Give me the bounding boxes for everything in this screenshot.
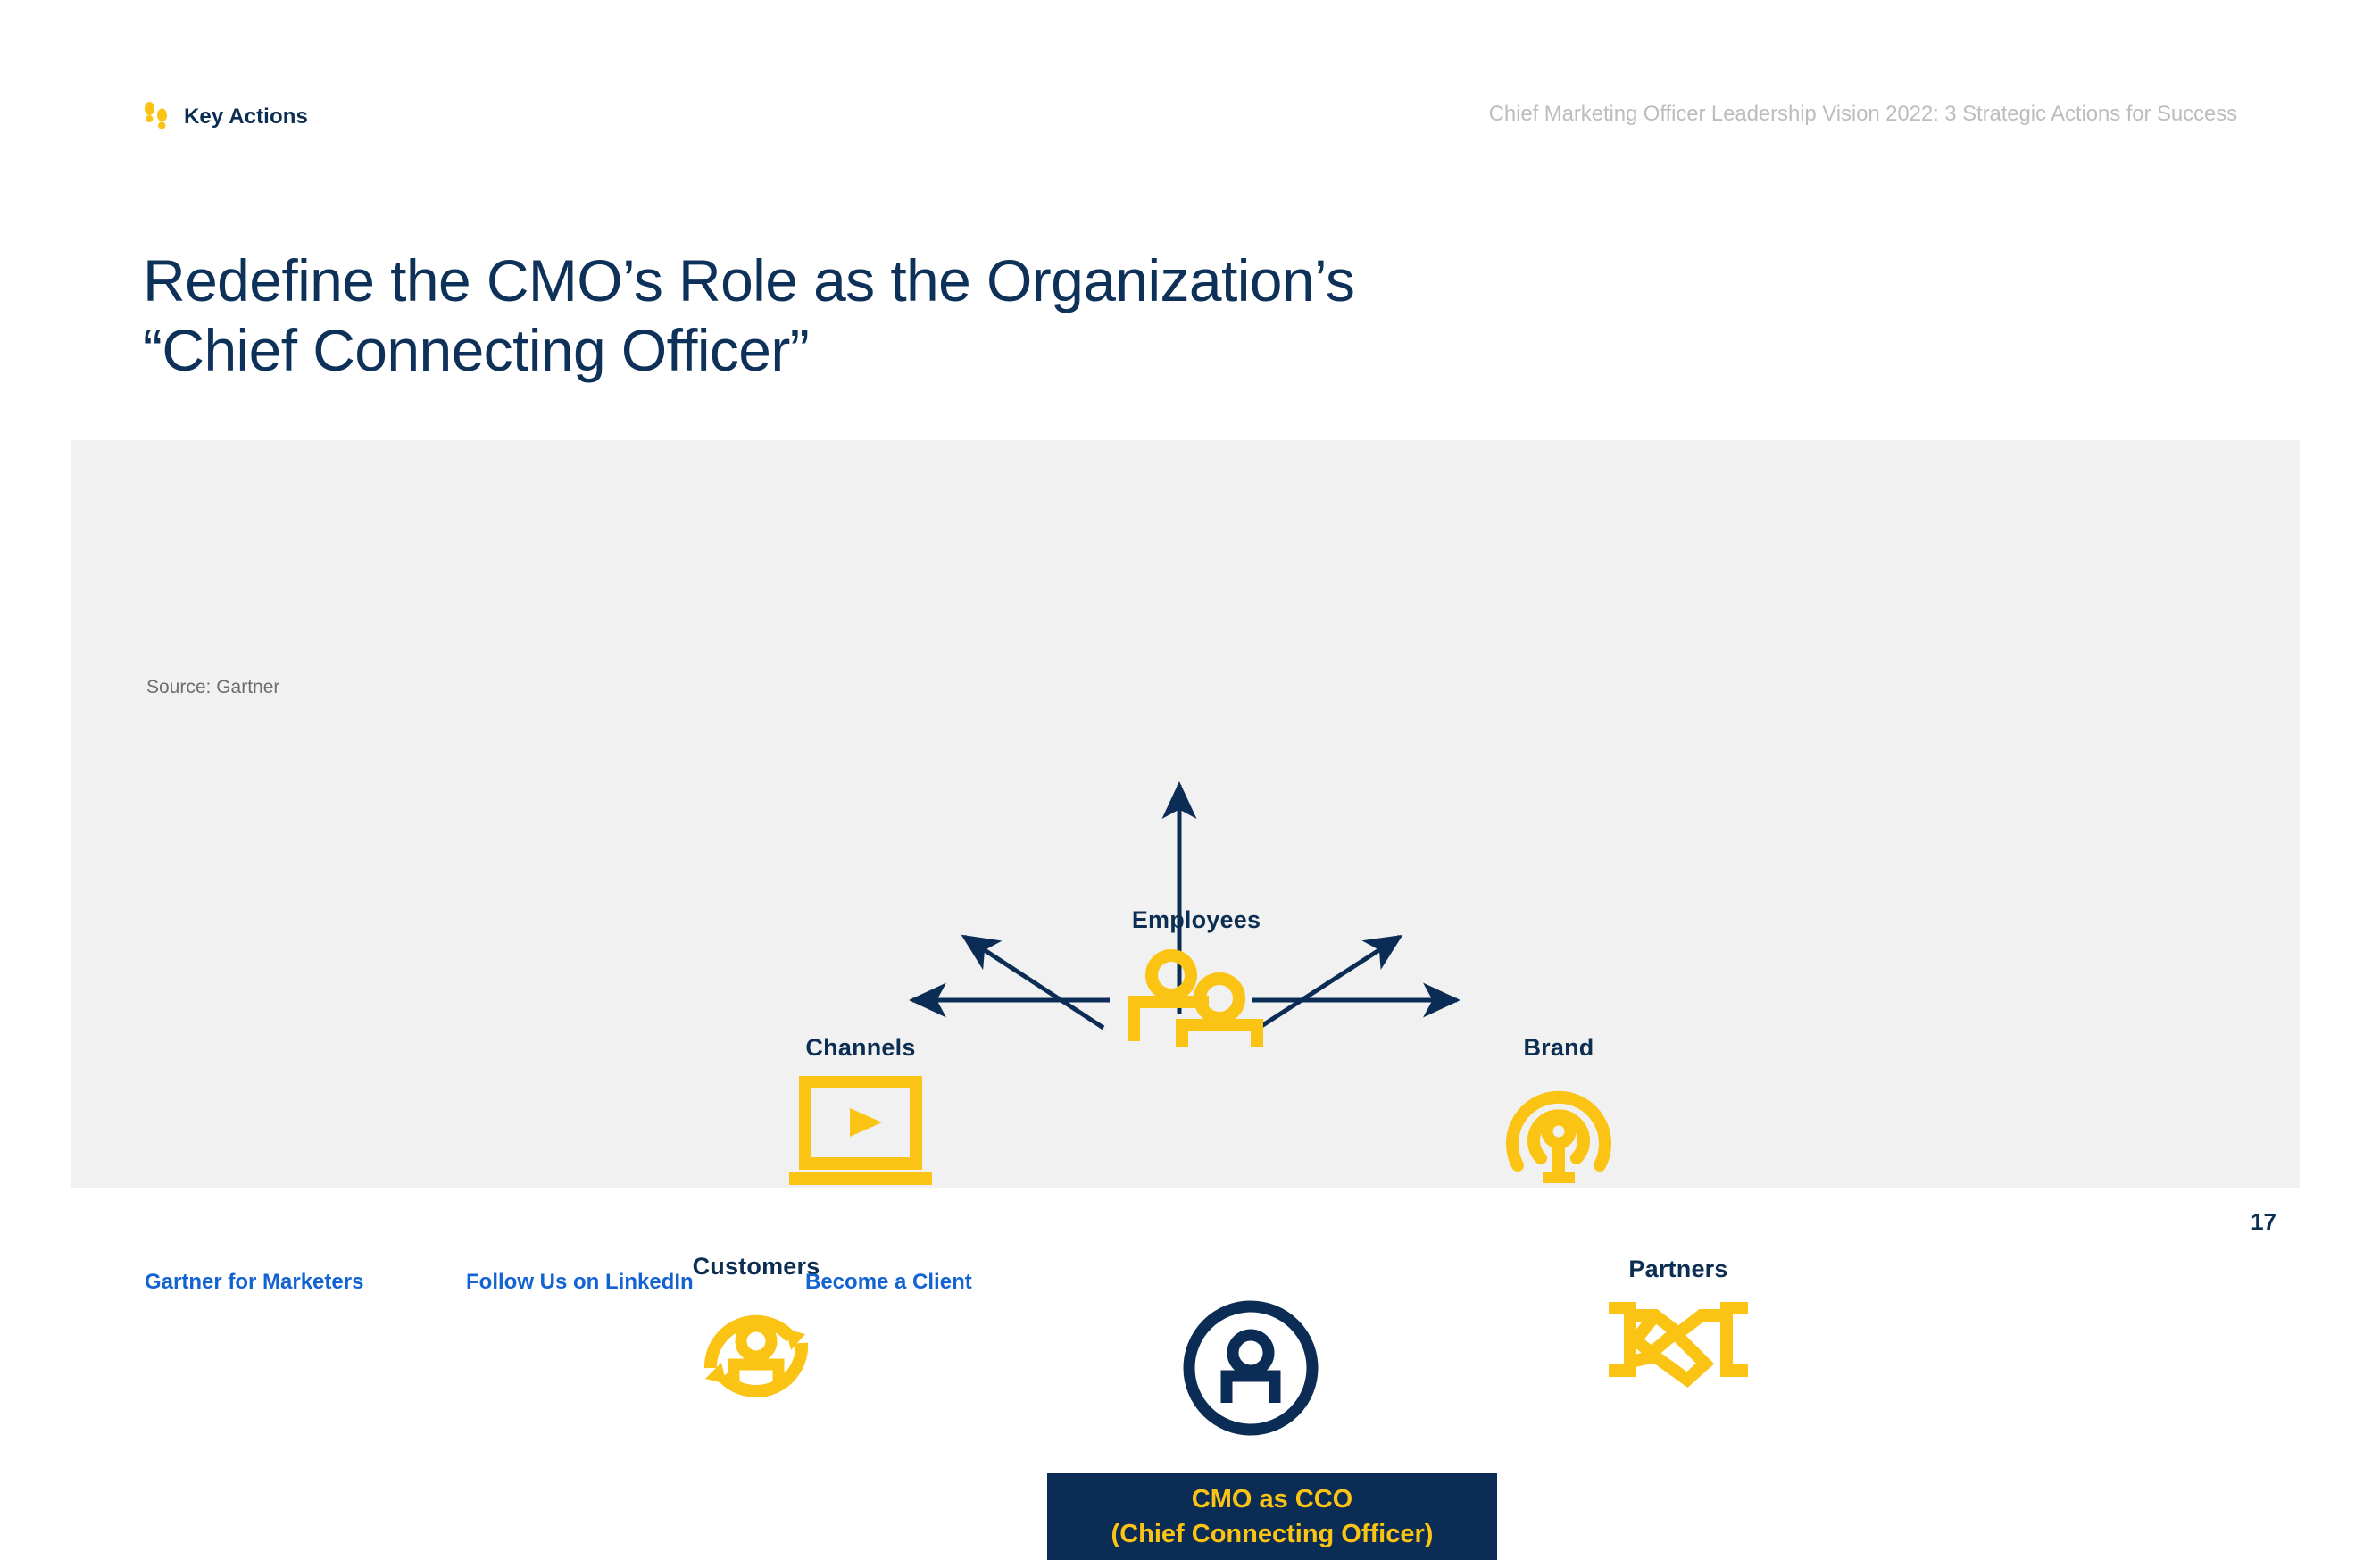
- node-brand[interactable]: Brand: [1498, 1034, 1619, 1183]
- diagram-panel: Employees Channels Brand: [71, 440, 2300, 1188]
- handshake-icon: [1600, 1297, 1757, 1392]
- key-actions-eyebrow: Key Actions: [143, 96, 308, 138]
- node-label-brand: Brand: [1523, 1034, 1594, 1062]
- node-employees[interactable]: Employees: [1125, 906, 1268, 1047]
- broadcast-signal-icon: [1498, 1076, 1619, 1183]
- deck-title: Chief Marketing Officer Leadership Visio…: [1489, 102, 2237, 127]
- cmo-as-cco-box: CMO as CCO (Chief Connecting Officer): [1047, 1473, 1497, 1560]
- footer-link-become-a-client[interactable]: Become a Client: [805, 1270, 972, 1295]
- page-title: Redefine the CMO’s Role as the Organizat…: [143, 246, 2018, 386]
- cmo-box-line-2: (Chief Connecting Officer): [1111, 1518, 1434, 1550]
- cmo-box-line-1: CMO as CCO: [1192, 1483, 1352, 1515]
- footer-link-gartner-for-marketers[interactable]: Gartner for Marketers: [145, 1270, 466, 1295]
- person-cycle-icon: [686, 1295, 827, 1414]
- page-title-line-2: “Chief Connecting Officer”: [143, 316, 2018, 386]
- footer-links: Gartner for Marketers Follow Us on Linke…: [145, 1270, 972, 1295]
- node-label-partners: Partners: [1628, 1256, 1727, 1283]
- source-note: Source: Gartner: [146, 677, 279, 698]
- footprints-icon: [143, 101, 170, 133]
- slide-header: Key Actions Chief Marketing Officer Lead…: [143, 96, 2237, 138]
- page-title-line-1: Redefine the CMO’s Role as the Organizat…: [143, 246, 2018, 316]
- page-number: 17: [2251, 1208, 2276, 1236]
- monitor-play-icon: [786, 1076, 936, 1189]
- arrow-hub-to-brand: [1259, 937, 1400, 1028]
- arrow-hub-to-channels: [964, 937, 1103, 1028]
- node-partners[interactable]: Partners: [1600, 1256, 1757, 1392]
- two-people-icon: [1125, 948, 1268, 1047]
- key-actions-label: Key Actions: [184, 104, 308, 129]
- diagram-arrows: [71, 440, 2300, 1188]
- node-label-employees: Employees: [1132, 906, 1261, 934]
- footer-link-follow-us-on-linkedin[interactable]: Follow Us on LinkedIn: [466, 1270, 805, 1295]
- node-label-channels: Channels: [805, 1034, 915, 1062]
- hub-cmo-icon[interactable]: [1178, 1296, 1323, 1440]
- node-channels[interactable]: Channels: [786, 1034, 936, 1189]
